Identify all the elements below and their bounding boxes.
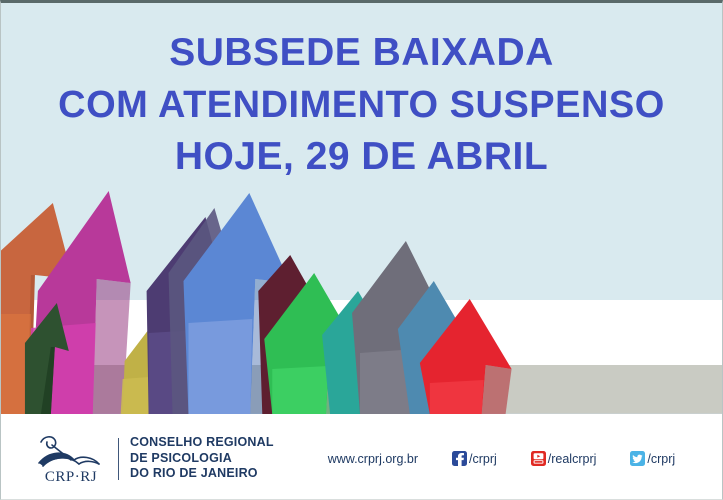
logo-text-line-2: DE PSICOLOGIA	[130, 451, 274, 467]
facebook-icon	[452, 451, 467, 466]
youtube-handle: /realcrprj	[548, 452, 597, 466]
arrow-green-lower	[272, 366, 328, 414]
crp-rj-logo-mark: CRP·RJ	[35, 433, 109, 485]
facebook-handle: /crprj	[469, 452, 497, 466]
facebook-link[interactable]: /crprj	[452, 451, 497, 466]
logo-text-line-3: DO RIO DE JANEIRO	[130, 466, 274, 482]
youtube-link[interactable]: /realcrprj	[531, 451, 597, 466]
book-and-quill-glyph	[39, 436, 99, 465]
twitter-link[interactable]: /crprj	[630, 451, 675, 466]
twitter-handle: /crprj	[647, 452, 675, 466]
crp-rj-logo: CRP·RJ CONSELHO REGIONAL DE PSICOLOGIA D…	[35, 433, 274, 485]
twitter-icon	[630, 451, 645, 466]
logo-text-block: CONSELHO REGIONAL DE PSICOLOGIA DO RIO D…	[130, 435, 274, 482]
logo-text-line-1: CONSELHO REGIONAL	[130, 435, 274, 451]
arrow-red-lower	[430, 380, 484, 414]
logo-divider	[118, 438, 119, 480]
youtube-icon	[531, 451, 546, 466]
website-link[interactable]: www.crprj.org.br	[326, 452, 418, 466]
footer-links: www.crprj.org.br /crprj	[326, 451, 675, 466]
poster-canvas: SUBSEDE BAIXADA COM ATENDIMENTO SUSPENSO…	[0, 0, 723, 500]
arrow-blue-lower	[188, 319, 252, 414]
crp-rj-acronym: CRP·RJ	[45, 469, 97, 485]
website-url: www.crprj.org.br	[328, 452, 418, 466]
footer-bar: CRP·RJ CONSELHO REGIONAL DE PSICOLOGIA D…	[1, 414, 722, 500]
rising-arrows-illustration	[1, 183, 722, 414]
